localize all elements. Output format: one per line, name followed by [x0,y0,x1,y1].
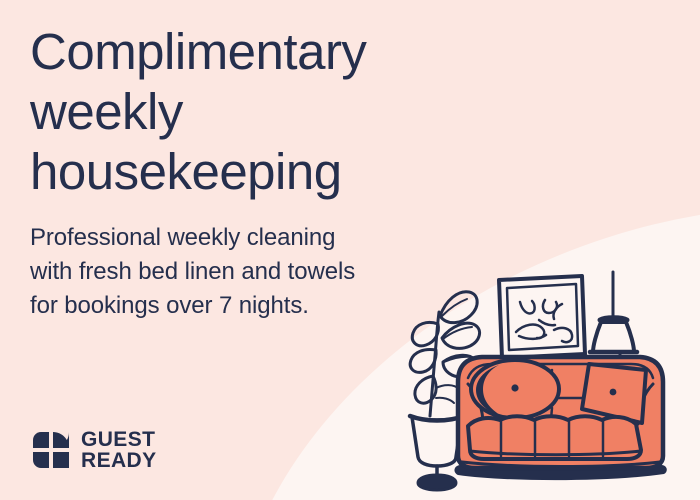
page-title: Complimentary weekly housekeeping [30,22,460,203]
text-block: Complimentary weekly housekeeping Profes… [30,22,460,323]
promo-banner: Complimentary weekly housekeeping Profes… [0,0,700,500]
couch [454,357,666,480]
logo-wordmark: GUEST READY [81,429,157,472]
round-cushion [471,360,559,418]
logo-line-2: READY [81,450,157,472]
framed-picture [499,276,585,358]
guest-ready-logo[interactable]: GUEST READY [32,429,157,472]
subtitle-text: Professional weekly cleaning with fresh … [30,221,460,323]
logo-line-1: GUEST [81,429,157,451]
guest-ready-quadrant-mark [32,431,70,469]
